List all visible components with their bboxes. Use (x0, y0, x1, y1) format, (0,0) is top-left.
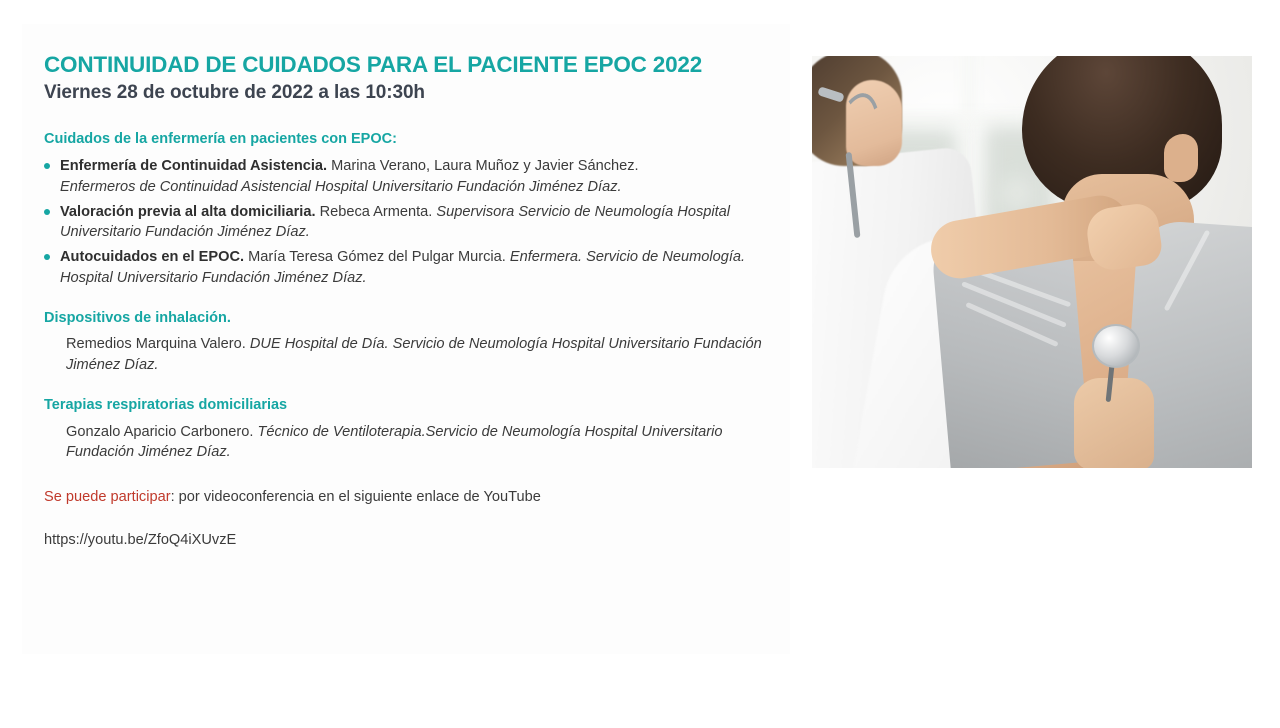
therapies-detail: Gonzalo Aparicio Carbonero. Técnico de V… (66, 422, 796, 463)
bullet-dot-icon (44, 209, 50, 215)
bullet-dot-icon (44, 254, 50, 260)
topic-affiliation: Enfermeros de Continuidad Asistencial Ho… (60, 179, 622, 195)
list-item: Valoración previa al alta domiciliaria. … (44, 202, 796, 243)
topic-title: Enfermería de Continuidad Asistencia. (60, 158, 327, 174)
poster-text-column: CONTINUIDAD DE CUIDADOS PARA EL PACIENTE… (44, 52, 796, 566)
devices-detail: Remedios Marquina Valero. DUE Hospital d… (66, 334, 796, 375)
devices-speaker: Remedios Marquina Valero. (66, 336, 250, 352)
section-heading-devices: Dispositivos de inhalación. (44, 309, 796, 328)
section-heading-therapies: Terapias respiratorias domiciliarias (44, 396, 796, 415)
participation-note: Se puede participar: por videoconferenci… (44, 487, 796, 508)
topic-speakers: Rebeca Armenta. (316, 204, 437, 220)
nursing-topic-list: Enfermería de Continuidad Asistencia. Ma… (44, 156, 796, 288)
topic-title: Valoración previa al alta domiciliaria. (60, 204, 316, 220)
photo-stethoscope-chestpiece (1092, 324, 1140, 368)
list-item: Autocuidados en el EPOC. María Teresa Gó… (44, 247, 796, 288)
participation-rest: : por videoconferencia en el siguiente e… (171, 489, 541, 505)
therapies-speaker: Gonzalo Aparicio Carbonero. (66, 424, 257, 440)
topic-title: Autocuidados en el EPOC. (60, 249, 244, 265)
page-title: CONTINUIDAD DE CUIDADOS PARA EL PACIENTE… (44, 52, 796, 79)
bullet-dot-icon (44, 163, 50, 169)
event-date: Viernes 28 de octubre de 2022 a las 10:3… (44, 82, 796, 105)
youtube-link[interactable]: https://youtu.be/ZfoQ4iXUvzE (44, 530, 796, 551)
media-column: Hospital Universitario Fundación Jiménez… (812, 56, 1252, 468)
photo-doctor-hand (1074, 378, 1154, 468)
topic-speakers: María Teresa Gómez del Pulgar Murcia. (244, 249, 510, 265)
topic-speakers: Marina Verano, Laura Muñoz y Javier Sánc… (327, 158, 639, 174)
participation-highlight: Se puede participar (44, 489, 171, 505)
doctor-examining-patient-photo (812, 56, 1252, 468)
list-item: Enfermería de Continuidad Asistencia. Ma… (44, 156, 796, 197)
photo-patient-ear (1164, 134, 1198, 182)
photo-window-pane (1000, 176, 1034, 210)
section-heading-nursing: Cuidados de la enfermería en pacientes c… (44, 130, 796, 149)
